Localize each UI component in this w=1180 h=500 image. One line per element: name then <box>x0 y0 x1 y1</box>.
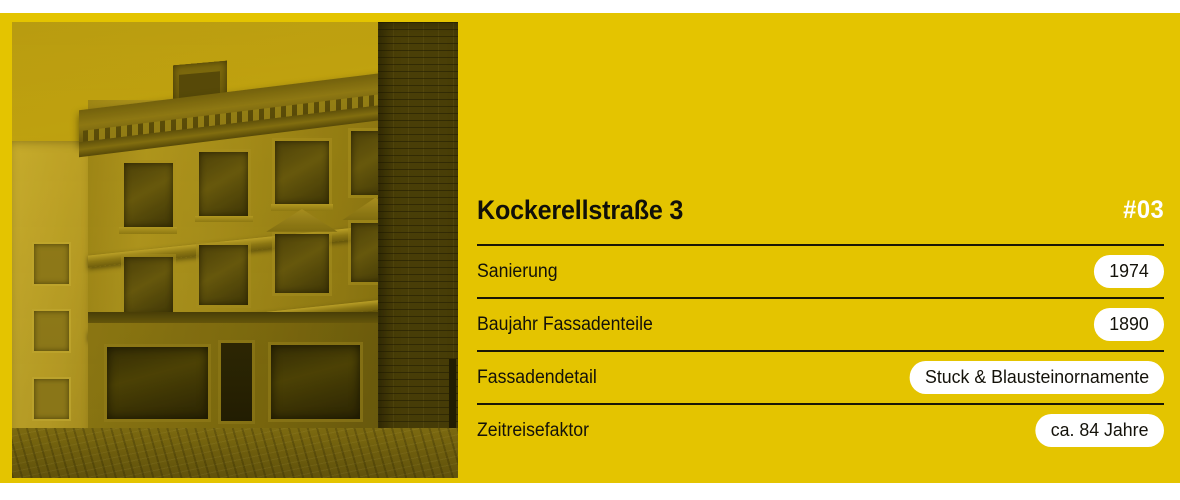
row-label: Baujahr Fassadenteile <box>477 314 653 336</box>
page-title: Kockerellstraße 3 <box>477 195 683 226</box>
row-value-badge: Stuck & Blausteinornamente <box>909 361 1164 393</box>
row-label: Sanierung <box>477 261 558 283</box>
row-value-badge: 1974 <box>1094 255 1164 287</box>
row-label: Fassadendetail <box>477 367 597 389</box>
building-facade-photo <box>12 22 458 478</box>
row-label: Zeitreisefaktor <box>477 420 589 442</box>
warm-tint-overlay <box>12 22 458 478</box>
row-value-badge: ca. 84 Jahre <box>1036 414 1164 446</box>
detail-row-sanierung: Sanierung 1974 <box>477 244 1164 297</box>
detail-row-fassadendetail: Fassadendetail Stuck & Blausteinornament… <box>477 350 1164 403</box>
detail-row-baujahr-fassadenteile: Baujahr Fassadenteile 1890 <box>477 297 1164 350</box>
detail-row-zeitreisefaktor: Zeitreisefaktor ca. 84 Jahre <box>477 403 1164 456</box>
detail-list: Sanierung 1974 Baujahr Fassadenteile 189… <box>477 244 1164 456</box>
title-row: Kockerellstraße 3 #03 <box>477 190 1164 230</box>
info-card: Kockerellstraße 3 #03 Sanierung 1974 Bau… <box>0 13 1180 483</box>
info-panel: Kockerellstraße 3 #03 Sanierung 1974 Bau… <box>477 22 1164 478</box>
index-badge: #03 <box>1123 196 1164 225</box>
row-value-badge: 1890 <box>1094 308 1164 340</box>
photo-scene <box>12 22 458 478</box>
